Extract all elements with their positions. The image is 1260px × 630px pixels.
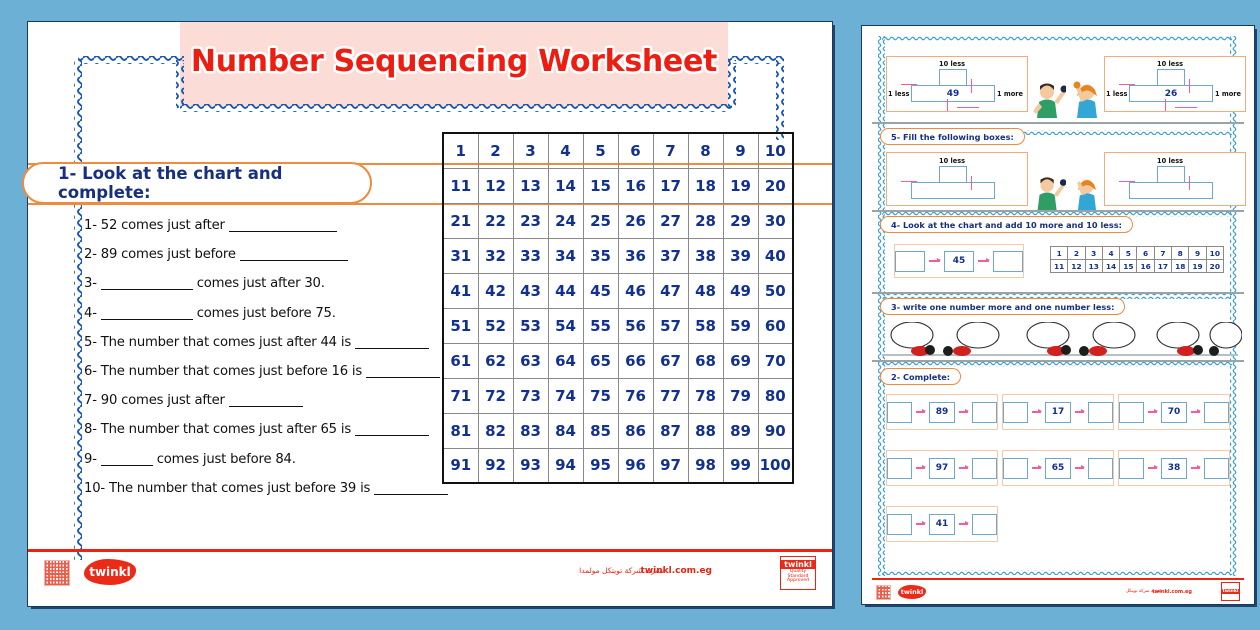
cross-label-top-1: 10 less xyxy=(939,60,965,68)
child-illustration-3 xyxy=(1032,174,1066,210)
sequence-box-after[interactable] xyxy=(972,514,997,535)
arrow-up-1 xyxy=(971,79,972,93)
chart-cell: 35 xyxy=(583,238,618,273)
chart-cell: 17 xyxy=(653,168,688,203)
arrow-right-icon xyxy=(1032,467,1041,468)
section-4-box-right xyxy=(993,251,1023,272)
sequence-box-before[interactable] xyxy=(1119,458,1144,479)
section-4-box-left xyxy=(895,251,925,272)
chart-cell: 63 xyxy=(513,343,548,378)
answer-blank[interactable] xyxy=(229,231,337,232)
chart-cell: 59 xyxy=(723,308,758,343)
chart-cell: 37 xyxy=(653,238,688,273)
number-sequence-row: 97 xyxy=(886,450,998,486)
arrow-right-icon xyxy=(916,523,925,524)
chart-cell: 74 xyxy=(548,378,583,413)
arrow-right-icon-s4b xyxy=(978,260,989,261)
mini-chart-cell: 2 xyxy=(1068,247,1085,260)
preview-section-5: 5- Fill the following boxes: 10 less xyxy=(872,126,1244,212)
chart-cell: 27 xyxy=(653,203,688,238)
screenshot-canvas: Number Sequencing Worksheet 1- Look at t… xyxy=(0,0,1260,630)
sequence-box-value: 70 xyxy=(1161,402,1186,423)
arrow-up-2 xyxy=(1189,79,1190,93)
question-item: 9- comes just before 84. xyxy=(84,452,464,467)
chart-cell: 62 xyxy=(478,343,513,378)
question-item: 6- The number that comes just before 16 … xyxy=(84,364,464,379)
chart-cell: 68 xyxy=(688,343,723,378)
cross-diagram-3: 10 less xyxy=(886,152,1028,206)
chart-cell: 50 xyxy=(758,273,793,308)
question-number: 9- xyxy=(84,452,101,467)
mini-chart-row: 12345678910 xyxy=(1051,247,1224,260)
cross-label-top-4: 10 less xyxy=(1157,157,1183,165)
chart-cell: 88 xyxy=(688,413,723,448)
question-text: The number that comes just before 16 is xyxy=(101,364,366,379)
sequence-box-after[interactable] xyxy=(1204,458,1229,479)
mini-chart-cell: 14 xyxy=(1102,260,1119,273)
mini-chart-row: 11121314151617181920 xyxy=(1051,260,1224,273)
section-5-heading-label: 5- Fill the following boxes: xyxy=(891,132,1014,142)
question-number: 3- xyxy=(84,276,101,291)
sequence-box-value: 41 xyxy=(929,514,954,535)
chart-cell: 4 xyxy=(548,133,583,168)
preview-section-4: 4- Look at the chart and add 10 more and… xyxy=(872,214,1244,294)
arrow-left-4 xyxy=(1119,181,1135,182)
chart-cell: 66 xyxy=(618,343,653,378)
question-item: 7- 90 comes just after xyxy=(84,393,464,408)
sequence-box-before[interactable] xyxy=(887,458,912,479)
arrow-right-icon xyxy=(959,523,968,524)
chart-cell: 64 xyxy=(548,343,583,378)
twinkl-logo: twinkl xyxy=(84,559,136,585)
chart-cell: 94 xyxy=(548,448,583,483)
mini-chart-cell: 9 xyxy=(1189,247,1206,260)
chart-cell: 3 xyxy=(513,133,548,168)
arrow-right-icon xyxy=(1148,467,1157,468)
child-illustration-1 xyxy=(1032,80,1066,118)
chart-cell: 25 xyxy=(583,203,618,238)
preview-footer-arabic-text: نشرته شركة تويتكل xyxy=(1126,589,1162,594)
chart-cell: 81 xyxy=(443,413,478,448)
chart-cell: 10 xyxy=(758,133,793,168)
mini-chart-cell: 10 xyxy=(1206,247,1223,260)
chart-cell: 54 xyxy=(548,308,583,343)
chart-cell: 57 xyxy=(653,308,688,343)
question-item: 1- 52 comes just after xyxy=(84,218,464,233)
chart-cell: 89 xyxy=(723,413,758,448)
chart-cell: 96 xyxy=(618,448,653,483)
cross-label-top-2: 10 less xyxy=(1157,60,1183,68)
sequence-box-value: 97 xyxy=(929,458,954,479)
chart-cell: 12 xyxy=(478,168,513,203)
question-item: 3- comes just after 30. xyxy=(84,276,464,291)
cross-diagram-2: 10 less 26 1 less 1 more xyxy=(1104,56,1246,112)
question-number: 1- xyxy=(84,218,101,233)
answer-blank[interactable] xyxy=(101,289,193,290)
arrow-up-4 xyxy=(1189,176,1190,190)
question-item: 10- The number that comes just before 39… xyxy=(84,481,464,496)
mini-chart-cell: 12 xyxy=(1068,260,1085,273)
arrow-right-icon-s4a xyxy=(929,260,940,261)
chart-cell: 55 xyxy=(583,308,618,343)
mini-chart-cell: 20 xyxy=(1206,260,1223,273)
sequence-box-value: 65 xyxy=(1045,458,1070,479)
cross-diagram-1: 10 less 49 1 less 1 more xyxy=(886,56,1028,112)
sequence-box-after[interactable] xyxy=(972,402,997,423)
chart-cell: 2 xyxy=(478,133,513,168)
sequence-box-before[interactable] xyxy=(1003,458,1028,479)
chart-cell: 18 xyxy=(688,168,723,203)
mini-chart-cell: 16 xyxy=(1137,260,1154,273)
hundred-chart: 1234567891011121314151617181920212223242… xyxy=(442,132,794,484)
chart-cell: 9 xyxy=(723,133,758,168)
cross-label-right-2: 1 more xyxy=(1215,90,1241,98)
arrow-left-3 xyxy=(901,181,917,182)
arrow-right-2 xyxy=(1175,107,1197,108)
chart-cell: 67 xyxy=(653,343,688,378)
question-text-suffix: comes just before 75. xyxy=(193,306,336,321)
chart-cell: 32 xyxy=(478,238,513,273)
question-text: 52 comes just after xyxy=(101,218,229,233)
quality-stamp: twinkl Quality Standard Approved xyxy=(780,556,816,590)
mini-chart-cell: 7 xyxy=(1154,247,1171,260)
arrow-right-1 xyxy=(957,107,979,108)
preview-quality-stamp: twinkl xyxy=(1221,582,1240,601)
chart-cell: 93 xyxy=(513,448,548,483)
child-illustration-4 xyxy=(1070,172,1104,210)
sequence-box-before[interactable] xyxy=(887,402,912,423)
chart-cell: 6 xyxy=(618,133,653,168)
mini-chart-cell: 8 xyxy=(1172,247,1189,260)
cross-box-center-4 xyxy=(1129,182,1213,199)
chart-cell: 98 xyxy=(688,448,723,483)
section-4-heading-label: 4- Look at the chart and add 10 more and… xyxy=(891,220,1122,230)
chart-cell: 85 xyxy=(583,413,618,448)
worksheet-preview-page: 10 less 49 1 less 1 more xyxy=(862,26,1254,604)
chart-cell: 30 xyxy=(758,203,793,238)
chart-cell: 75 xyxy=(583,378,618,413)
arrow-right-icon xyxy=(1148,411,1157,412)
chart-cell: 29 xyxy=(723,203,758,238)
cross-label-right-1: 1 more xyxy=(997,90,1023,98)
question-text: 89 comes just before xyxy=(101,247,240,262)
chart-cell: 49 xyxy=(723,273,758,308)
chart-cell: 23 xyxy=(513,203,548,238)
chart-cell: 61 xyxy=(443,343,478,378)
chart-cell: 92 xyxy=(478,448,513,483)
arrow-left-1 xyxy=(901,84,917,85)
chart-cell: 36 xyxy=(618,238,653,273)
chart-cell: 45 xyxy=(583,273,618,308)
chart-row: 21222324252627282930 xyxy=(443,203,793,238)
chart-cell: 48 xyxy=(688,273,723,308)
chart-cell: 60 xyxy=(758,308,793,343)
sequence-box-before[interactable] xyxy=(1003,402,1028,423)
chart-cell: 77 xyxy=(653,378,688,413)
section-3-heading: 3- write one number more and one number … xyxy=(880,298,1125,315)
quality-stamp-title: twinkl xyxy=(781,560,815,569)
question-item: 2- 89 comes just before xyxy=(84,247,464,262)
cross-box-center-1: 49 xyxy=(911,85,995,102)
chart-row: 12345678910 xyxy=(443,133,793,168)
chart-cell: 82 xyxy=(478,413,513,448)
sequence-box-before[interactable] xyxy=(1119,402,1144,423)
chart-cell: 40 xyxy=(758,238,793,273)
chart-cell: 44 xyxy=(548,273,583,308)
chart-cell: 56 xyxy=(618,308,653,343)
chart-cell: 46 xyxy=(618,273,653,308)
sequence-box-value: 17 xyxy=(1045,402,1070,423)
arrow-right-icon xyxy=(916,411,925,412)
question-number: 10- xyxy=(84,481,109,496)
question-number: 4- xyxy=(84,306,101,321)
mini-chart-cell: 18 xyxy=(1172,260,1189,273)
preview-section-6: 10 less 49 1 less 1 more xyxy=(872,40,1244,124)
mini-chart-cell: 5 xyxy=(1120,247,1137,260)
question-item: 8- The number that comes just after 65 i… xyxy=(84,422,464,437)
answer-blank[interactable] xyxy=(374,494,448,495)
chart-cell: 95 xyxy=(583,448,618,483)
question-text: The number that comes just before 39 is xyxy=(109,481,374,496)
sequence-box-value: 89 xyxy=(929,402,954,423)
answer-blank[interactable] xyxy=(101,465,153,466)
preview-section-3: 3- write one number more and one number … xyxy=(872,296,1244,362)
section-2-heading-label: 2- Complete: xyxy=(891,372,950,382)
chart-cell: 28 xyxy=(688,203,723,238)
arrow-down-2 xyxy=(1165,99,1166,111)
answer-blank[interactable] xyxy=(366,377,440,378)
chart-cell: 16 xyxy=(618,168,653,203)
section-2-heading: 2- Complete: xyxy=(880,368,961,385)
chart-cell: 90 xyxy=(758,413,793,448)
chart-cell: 14 xyxy=(548,168,583,203)
section-4-box-center: 45 xyxy=(944,251,974,272)
answer-blank[interactable] xyxy=(355,435,429,436)
chart-cell: 70 xyxy=(758,343,793,378)
number-sequence-row: 38 xyxy=(1118,450,1230,486)
chart-cell: 100 xyxy=(758,448,793,483)
question-text-suffix: comes just before 84. xyxy=(153,452,296,467)
arrow-down-1 xyxy=(947,99,948,111)
chart-cell: 69 xyxy=(723,343,758,378)
chart-cell: 41 xyxy=(443,273,478,308)
chart-cell: 87 xyxy=(653,413,688,448)
chart-cell: 8 xyxy=(688,133,723,168)
chart-cell: 1 xyxy=(443,133,478,168)
arrow-right-icon xyxy=(1075,467,1084,468)
mini-chart-cell: 19 xyxy=(1189,260,1206,273)
chart-row: 81828384858687888990 xyxy=(443,413,793,448)
mini-chart-cell: 17 xyxy=(1154,260,1171,273)
chart-cell: 24 xyxy=(548,203,583,238)
chart-cell: 21 xyxy=(443,203,478,238)
chart-cell: 83 xyxy=(513,413,548,448)
chart-row: 31323334353637383940 xyxy=(443,238,793,273)
preview-twinkl-logo: twinkl xyxy=(898,585,926,599)
question-item: 5- The number that comes just after 44 i… xyxy=(84,335,464,350)
sequence-box-value: 38 xyxy=(1161,458,1186,479)
preview-footer: twinkl twinkl.com.eg نشرته شركة تويتكل t… xyxy=(862,578,1254,608)
cross-label-top-3: 10 less xyxy=(939,157,965,165)
chart-cell: 15 xyxy=(583,168,618,203)
number-sequence-row: 41 xyxy=(886,506,998,542)
number-sequence-row: 70 xyxy=(1118,394,1230,430)
question-text-suffix: comes just after 30. xyxy=(193,276,325,291)
chart-cell: 71 xyxy=(443,378,478,413)
footer: twinkl twinkl.com.eg نشرته شركة تويتكل م… xyxy=(28,549,832,598)
answer-blank[interactable] xyxy=(101,319,193,320)
child-illustration-2 xyxy=(1070,76,1104,118)
chart-row: 51525354555657585960 xyxy=(443,308,793,343)
sequence-box-after[interactable] xyxy=(1204,402,1229,423)
chart-cell: 84 xyxy=(548,413,583,448)
chart-cell: 97 xyxy=(653,448,688,483)
question-number: 7- xyxy=(84,393,101,408)
sequence-box-after[interactable] xyxy=(1088,402,1113,423)
chart-cell: 91 xyxy=(443,448,478,483)
chart-cell: 65 xyxy=(583,343,618,378)
chart-cell: 47 xyxy=(653,273,688,308)
section-3-heading-label: 3- write one number more and one number … xyxy=(891,302,1114,312)
footer-arabic-text: نشرته شركة تويتكل مولمدا xyxy=(579,566,664,575)
chart-cell: 20 xyxy=(758,168,793,203)
chart-cell: 78 xyxy=(688,378,723,413)
chart-cell: 39 xyxy=(723,238,758,273)
section-5-heading: 5- Fill the following boxes: xyxy=(880,128,1025,145)
question-text: The number that comes just after 65 is xyxy=(101,422,355,437)
mini-chart-cell: 3 xyxy=(1085,247,1102,260)
question-number: 6- xyxy=(84,364,101,379)
sequence-box-after[interactable] xyxy=(972,458,997,479)
qr-code-icon xyxy=(44,560,70,586)
arrow-up-3 xyxy=(971,176,972,190)
question-number: 5- xyxy=(84,335,101,350)
sequence-box-after[interactable] xyxy=(1088,458,1113,479)
chart-cell: 26 xyxy=(618,203,653,238)
chart-cell: 7 xyxy=(653,133,688,168)
chart-cell: 5 xyxy=(583,133,618,168)
arrow-right-icon xyxy=(916,467,925,468)
chart-cell: 58 xyxy=(688,308,723,343)
cross-label-left-1: 1 less xyxy=(888,90,909,98)
answer-blank[interactable] xyxy=(355,348,429,349)
chart-cell: 76 xyxy=(618,378,653,413)
preview-section-2: 2- Complete: 89177097653841 xyxy=(872,364,1244,570)
chart-cell: 34 xyxy=(548,238,583,273)
chart-cell: 33 xyxy=(513,238,548,273)
mini-chart-cell: 13 xyxy=(1085,260,1102,273)
mini-chart-cell: 11 xyxy=(1051,260,1068,273)
number-sequence-row: 17 xyxy=(1002,394,1114,430)
chart-cell: 99 xyxy=(723,448,758,483)
chart-row: 11121314151617181920 xyxy=(443,168,793,203)
mini-chart-cell: 1 xyxy=(1051,247,1068,260)
number-sequence-row: 89 xyxy=(886,394,998,430)
cross-box-center-3 xyxy=(911,182,995,199)
page-title: Number Sequencing Worksheet xyxy=(180,44,728,79)
chart-cell: 52 xyxy=(478,308,513,343)
chart-cell: 42 xyxy=(478,273,513,308)
ladybug-illustrations xyxy=(886,322,1242,356)
question-number: 2- xyxy=(84,247,101,262)
chart-row: 41424344454647484950 xyxy=(443,273,793,308)
section-4-heading: 4- Look at the chart and add 10 more and… xyxy=(880,216,1133,233)
arrow-right-icon xyxy=(1191,411,1200,412)
sequence-box-before[interactable] xyxy=(887,514,912,535)
chart-cell: 80 xyxy=(758,378,793,413)
chart-cell: 79 xyxy=(723,378,758,413)
question-item: 4- comes just before 75. xyxy=(84,306,464,321)
chart-cell: 31 xyxy=(443,238,478,273)
arrow-right-icon xyxy=(959,467,968,468)
worksheet-page: Number Sequencing Worksheet 1- Look at t… xyxy=(28,22,832,606)
chart-cell: 11 xyxy=(443,168,478,203)
mini-chart-cell: 4 xyxy=(1102,247,1119,260)
arrow-right-icon xyxy=(1075,411,1084,412)
number-sequence-row: 65 xyxy=(1002,450,1114,486)
cross-label-left-2: 1 less xyxy=(1106,90,1127,98)
chart-row: 919293949596979899100 xyxy=(443,448,793,483)
quality-stamp-subtitle: Quality Standard Approved xyxy=(781,569,815,585)
preview-qr-code-icon xyxy=(876,585,891,600)
question-number: 8- xyxy=(84,422,101,437)
chart-row: 71727374757677787980 xyxy=(443,378,793,413)
chart-cell: 19 xyxy=(723,168,758,203)
chart-cell: 86 xyxy=(618,413,653,448)
question-text: The number that comes just after 44 is xyxy=(101,335,355,350)
arrow-left-2 xyxy=(1119,84,1135,85)
section-4-number-row: 45 xyxy=(894,244,1024,278)
mini-chart-cell: 15 xyxy=(1120,260,1137,273)
preview-stamp-title: twinkl xyxy=(1222,589,1239,594)
mini-number-chart: 1234567891011121314151617181920 xyxy=(1050,246,1224,273)
chart-cell: 73 xyxy=(513,378,548,413)
arrow-right-icon xyxy=(1191,467,1200,468)
chart-cell: 13 xyxy=(513,168,548,203)
arrow-right-icon xyxy=(959,411,968,412)
arrow-right-icon xyxy=(1032,411,1041,412)
cross-box-center-2: 26 xyxy=(1129,85,1213,102)
chart-cell: 53 xyxy=(513,308,548,343)
section-1-heading-label: 1- Look at the chart and complete: xyxy=(58,164,370,202)
cross-diagram-4: 10 less xyxy=(1104,152,1246,206)
answer-blank[interactable] xyxy=(229,406,303,407)
chart-cell: 22 xyxy=(478,203,513,238)
chart-cell: 51 xyxy=(443,308,478,343)
question-text: 90 comes just after xyxy=(101,393,229,408)
questions-list: 1- 52 comes just after 2- 89 comes just … xyxy=(84,218,464,510)
chart-row: 61626364656667686970 xyxy=(443,343,793,378)
section-1-heading: 1- Look at the chart and complete: xyxy=(22,162,372,204)
chart-cell: 38 xyxy=(688,238,723,273)
answer-blank[interactable] xyxy=(240,260,348,261)
chart-cell: 72 xyxy=(478,378,513,413)
mini-chart-cell: 6 xyxy=(1137,247,1154,260)
chart-cell: 43 xyxy=(513,273,548,308)
